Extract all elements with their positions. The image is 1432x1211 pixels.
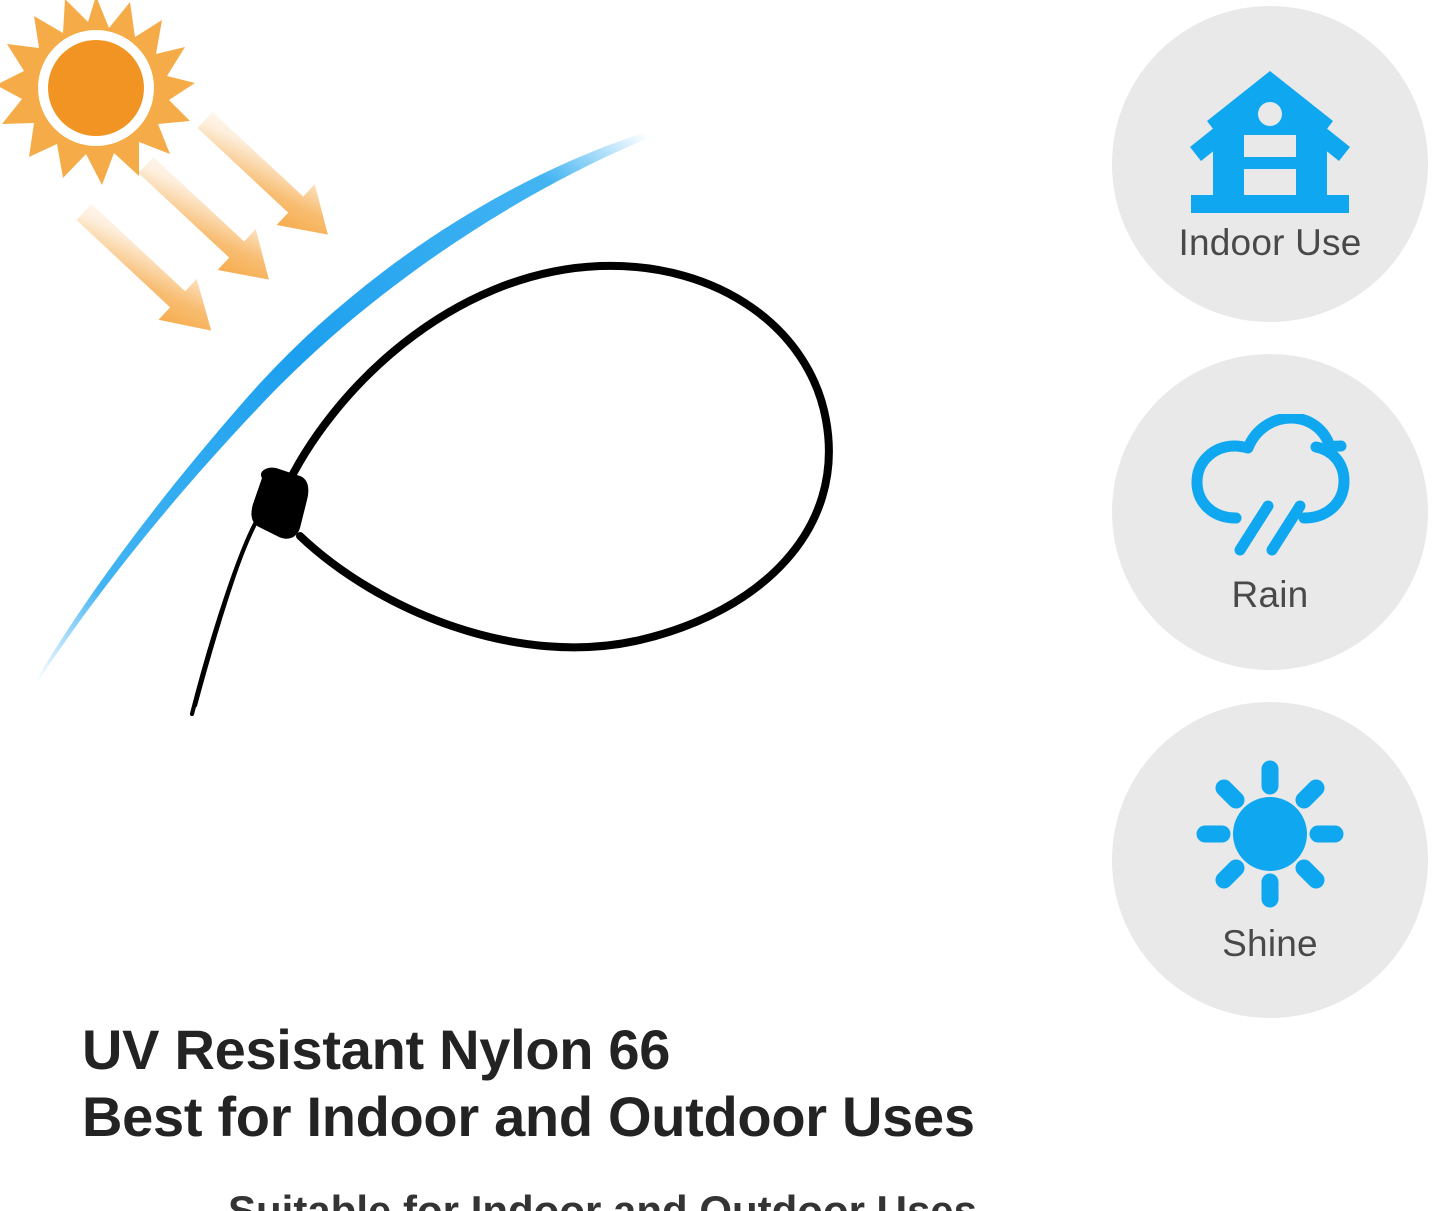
badge-label-indoor-use: Indoor Use [1179, 224, 1362, 261]
uv-resistance-illustration [0, 0, 1090, 1010]
badge-rain[interactable]: Rain [1112, 354, 1428, 670]
house-icon [1186, 68, 1354, 218]
headline-line-3-text: Suitable for Indoor and Outdoor Uses [228, 1188, 1088, 1211]
badge-indoor-use[interactable]: Indoor Use [1112, 6, 1428, 322]
badge-label-rain: Rain [1232, 576, 1309, 613]
badge-label-shine: Shine [1222, 925, 1318, 962]
badge-shine[interactable]: Shine [1112, 702, 1428, 1018]
infographic-stage: Indoor Use Rain [0, 0, 1432, 1211]
sun-shine-icon [1186, 759, 1354, 909]
cable-tie-icon [192, 266, 829, 714]
headline-block: UV Resistant Nylon 66 Best for Indoor an… [82, 1016, 1082, 1150]
headline-line-1: UV Resistant Nylon 66 [82, 1016, 1082, 1083]
feature-badge-column: Indoor Use Rain [1108, 6, 1432, 1018]
sun-burst-icon [0, 0, 195, 185]
headline-line-3-clipped: Suitable for Indoor and Outdoor Uses [228, 1188, 1088, 1211]
headline-line-2: Best for Indoor and Outdoor Uses [82, 1083, 1082, 1150]
uv-shield-arc [16, 126, 668, 716]
rain-cloud-icon [1186, 412, 1354, 562]
